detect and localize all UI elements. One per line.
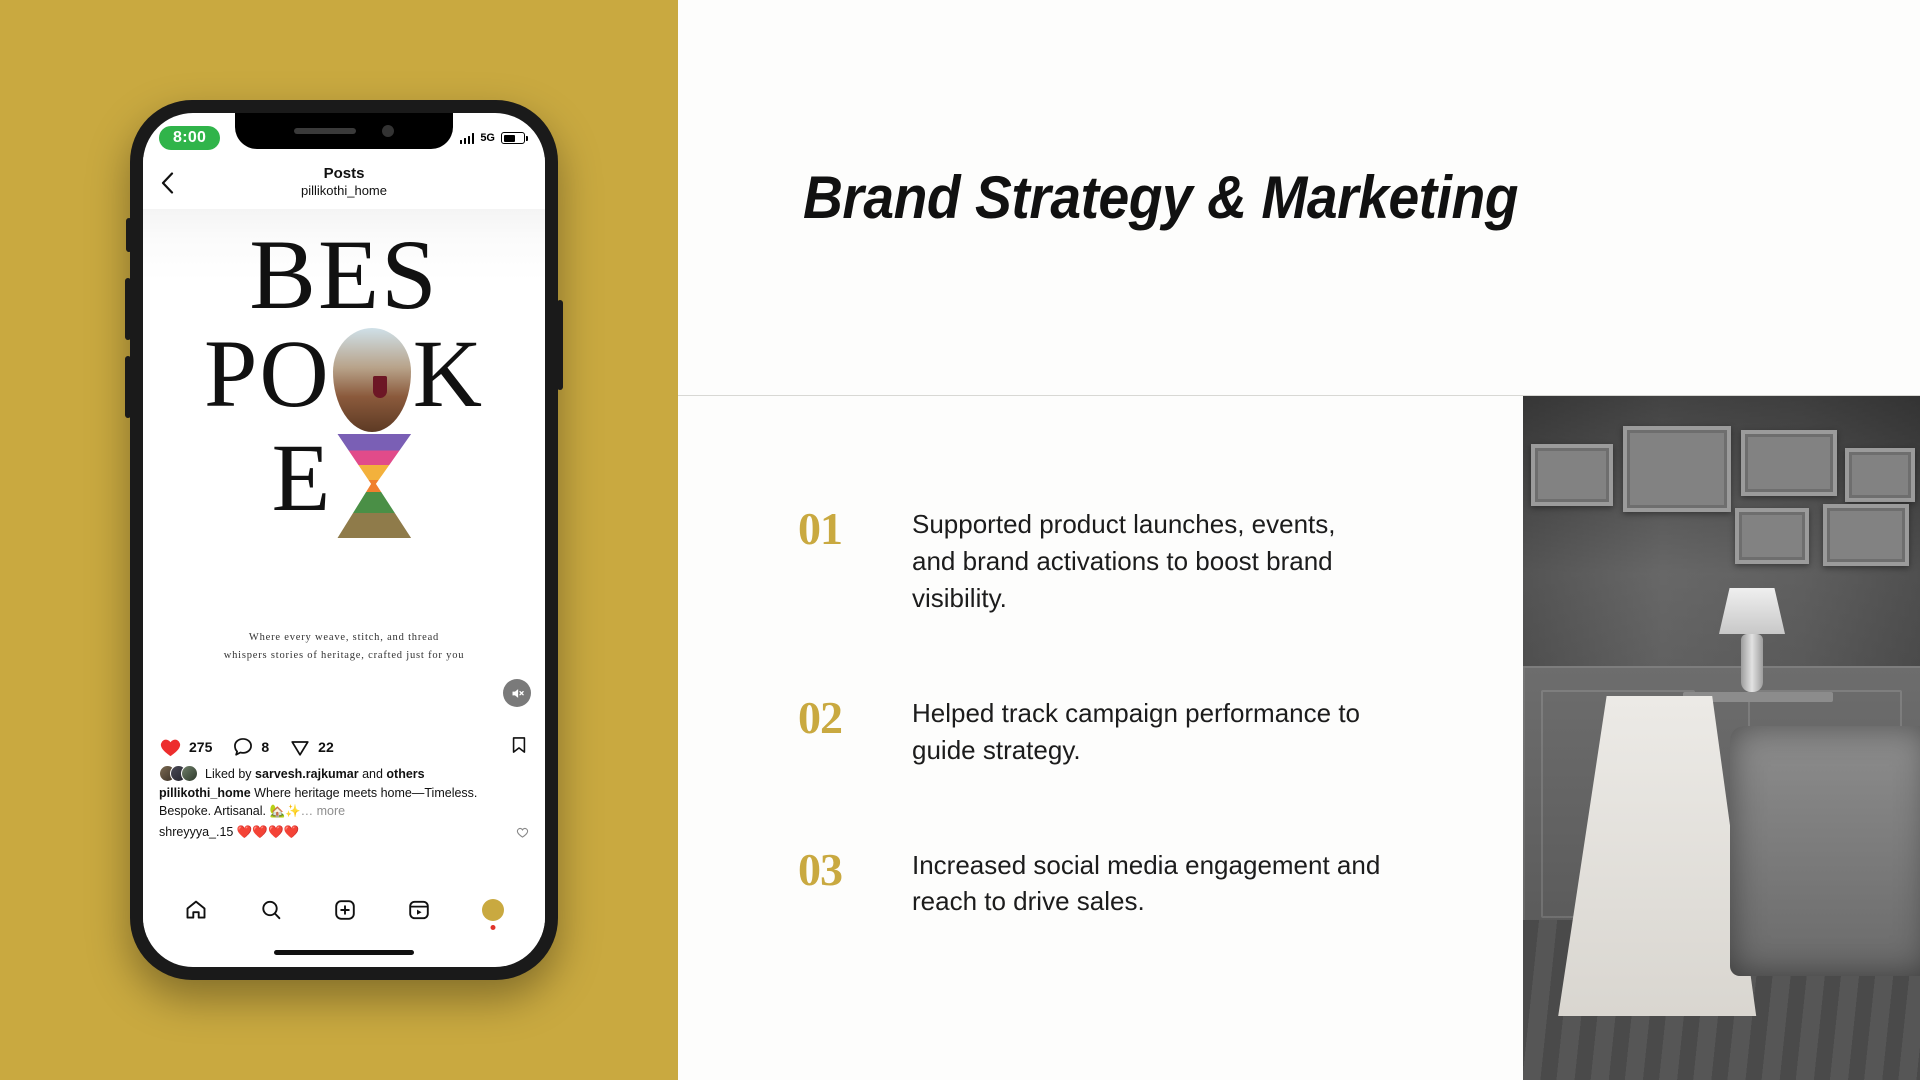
bookmark-icon[interactable] (509, 734, 529, 761)
title-area: Brand Strategy & Marketing (678, 0, 1920, 396)
comment-bubble-icon (232, 736, 254, 758)
heart-outline-icon[interactable] (516, 826, 529, 839)
point-number: 02 (798, 695, 870, 769)
lamp-shade (1719, 588, 1785, 634)
bespoke-letter-e: E (272, 432, 333, 523)
status-indicators: 5G (460, 132, 525, 144)
page-title: Posts (187, 166, 501, 183)
liked-by-row[interactable]: Liked by sarvesh.rajkumar and others (159, 765, 529, 782)
share-paperplane-icon (289, 736, 311, 758)
phone-mockup: 8:00 5G Posts pillikothi_home (130, 100, 558, 980)
signal-bars-icon (460, 133, 475, 144)
point-text: Helped track campaign performance to gui… (912, 695, 1382, 769)
liked-and: and (362, 767, 383, 781)
lamp-base (1741, 634, 1763, 692)
phone-power-button[interactable] (557, 300, 563, 390)
mute-speaker-icon[interactable] (503, 679, 531, 707)
liked-by-avatars (159, 765, 198, 782)
point-number: 01 (798, 506, 870, 617)
point-number: 03 (798, 847, 870, 921)
bespoke-letters-po: PO (204, 328, 331, 419)
comment-content: shreyyya_.15 ❤️❤️❤️❤️ (159, 825, 299, 840)
phone-volume-up-button[interactable] (125, 278, 131, 340)
heart-filled-icon (159, 736, 182, 759)
bespoke-line-2: PO K (143, 322, 545, 426)
post-overlay-caption: Where every weave, stitch, and thread wh… (143, 629, 545, 665)
instagram-header: Posts pillikothi_home (143, 157, 545, 209)
wall-frame (1531, 444, 1613, 506)
liked-username[interactable]: sarvesh.rajkumar (255, 767, 359, 781)
point-text: Supported product launches, events, and … (912, 506, 1382, 617)
point-text: Increased social media engagement and re… (912, 847, 1382, 921)
reels-icon[interactable] (407, 898, 431, 922)
post-image[interactable]: BES PO K E Where every weave, stitch, an… (143, 209, 545, 717)
slide-root: 8:00 5G Posts pillikothi_home (0, 0, 1920, 1080)
share-action[interactable]: 22 (289, 736, 334, 758)
share-count: 22 (318, 739, 334, 755)
caption-more-link[interactable]: … more (301, 804, 345, 818)
interior-photo (1523, 396, 1920, 1080)
list-item: 03 Increased social media engagement and… (798, 847, 1523, 921)
comment-username[interactable]: shreyyya_.15 (159, 825, 233, 839)
post-action-bar: 275 8 22 (143, 727, 545, 767)
header-titles: Posts pillikothi_home (187, 166, 501, 200)
wall-frame (1845, 448, 1915, 502)
home-indicator-bar[interactable] (274, 950, 414, 955)
points-list: 01 Supported product launches, events, a… (678, 396, 1523, 1080)
caption-text: pillikothi_home Where heritage meets hom… (159, 785, 529, 821)
wall-frame (1735, 508, 1809, 564)
avatar (181, 765, 198, 782)
list-item: 01 Supported product launches, events, a… (798, 506, 1523, 617)
status-bar: 8:00 5G (143, 113, 545, 157)
comment-body: ❤️❤️❤️❤️ (237, 825, 299, 839)
profile-avatar-icon[interactable] (482, 899, 504, 921)
list-item: 02 Helped track campaign performance to … (798, 695, 1523, 769)
slide-title: Brand Strategy & Marketing (803, 163, 1518, 232)
wall-frame (1741, 430, 1837, 496)
back-chevron-icon[interactable] (147, 172, 187, 194)
add-plus-icon[interactable] (333, 898, 357, 922)
vase-photo-letter-icon (333, 328, 411, 432)
comment-action[interactable]: 8 (232, 736, 269, 758)
caption-author[interactable]: pillikothi_home (159, 786, 251, 800)
overlay-caption-line-2: whispers stories of heritage, crafted ju… (143, 647, 545, 665)
post-caption-block: Liked by sarvesh.rajkumar and others pil… (143, 765, 545, 840)
phone-volume-down-button[interactable] (125, 356, 131, 418)
account-handle: pillikothi_home (187, 182, 501, 200)
like-action[interactable]: 275 (159, 736, 212, 759)
network-label: 5G (480, 132, 495, 144)
liked-by-text: Liked by sarvesh.rajkumar and others (205, 767, 425, 781)
overlay-caption-line-1: Where every weave, stitch, and thread (143, 629, 545, 647)
bespoke-line-1: BES (143, 227, 545, 322)
wall-frame (1623, 426, 1731, 512)
bespoke-line-3: E (143, 426, 545, 530)
search-icon[interactable] (259, 898, 283, 922)
bespoke-typography: BES PO K E (143, 227, 545, 530)
status-time: 8:00 (159, 126, 220, 150)
tufted-sofa (1730, 726, 1920, 976)
phone-mute-button[interactable] (126, 218, 132, 252)
home-icon[interactable] (184, 898, 208, 922)
textile-photo-letter-icon (334, 434, 414, 538)
liked-others[interactable]: others (386, 767, 424, 781)
battery-icon (501, 132, 525, 144)
top-comment-row: shreyyya_.15 ❤️❤️❤️❤️ (159, 825, 529, 840)
instagram-bottom-nav (143, 883, 545, 937)
phone-screen: 8:00 5G Posts pillikothi_home (143, 113, 545, 967)
bespoke-letter-k: K (413, 328, 484, 419)
like-count: 275 (189, 739, 212, 755)
comment-count: 8 (261, 739, 269, 755)
wall-frame (1823, 504, 1909, 566)
liked-prefix: Liked by (205, 767, 252, 781)
